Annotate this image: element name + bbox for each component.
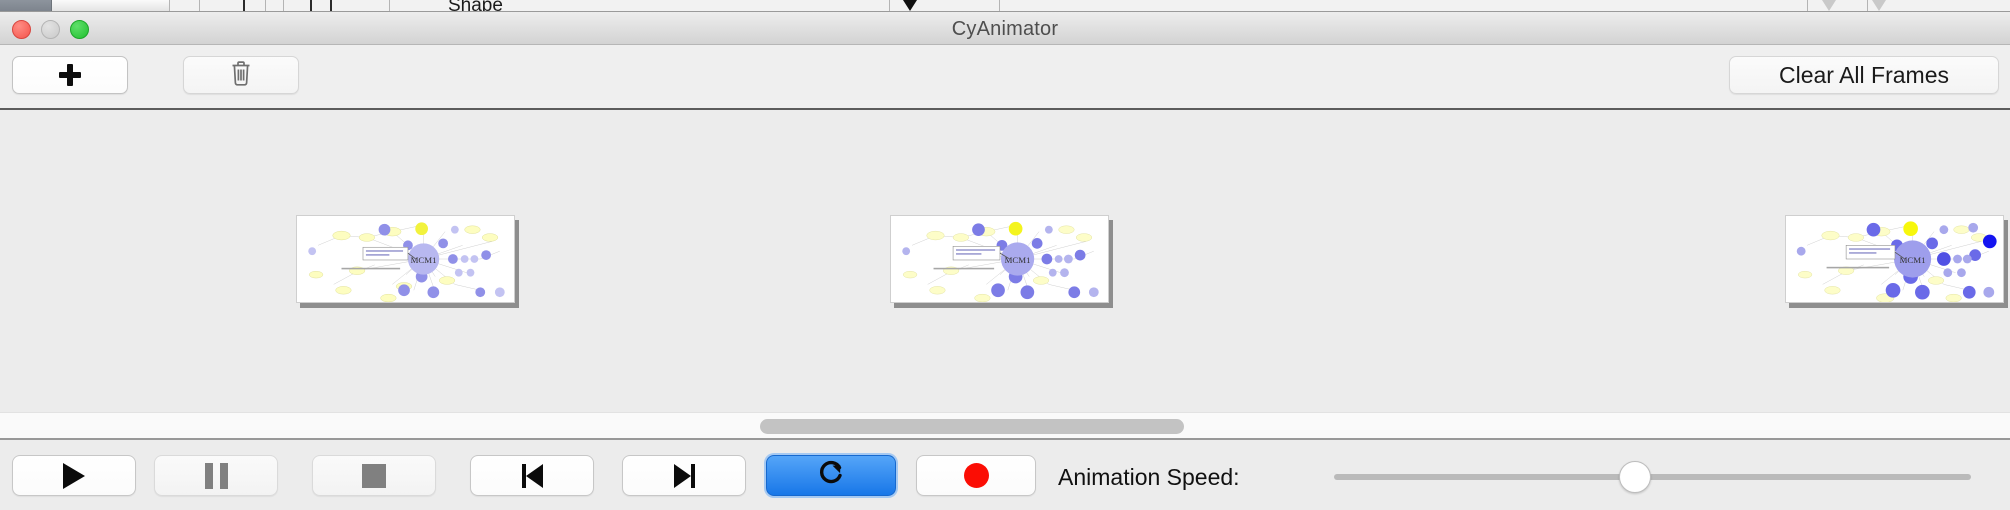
timeline-panel[interactable]: MCM1 [0, 112, 2010, 410]
hub-node-label: MCM1 [411, 255, 437, 265]
background-window-strip: Shape [0, 0, 2010, 12]
animation-speed-slider-thumb[interactable] [1619, 461, 1651, 493]
network-graph-thumbnail: MCM1 [297, 216, 514, 302]
timeline-scrollbar[interactable] [0, 412, 2010, 440]
stop-icon [362, 464, 386, 488]
timeline-frame-thumbnail[interactable]: MCM1 [1785, 215, 2004, 303]
clear-all-frames-label: Clear All Frames [1779, 62, 1949, 89]
stop-button[interactable] [312, 455, 436, 496]
hub-node-label: MCM1 [1900, 255, 1926, 265]
clear-all-frames-button[interactable]: Clear All Frames [1729, 56, 1999, 94]
network-graph-thumbnail: MCM1 [1786, 216, 2003, 302]
hub-node-label: MCM1 [1005, 255, 1031, 265]
record-icon [964, 463, 989, 488]
animation-speed-slider[interactable] [1334, 474, 1971, 480]
page-title: CyAnimator [0, 18, 2010, 41]
network-graph-thumbnail: MCM1 [891, 216, 1108, 302]
add-frame-button[interactable] [12, 56, 128, 94]
timeline-frame-thumbnail[interactable]: MCM1 [296, 215, 515, 303]
pause-button[interactable] [154, 455, 278, 496]
loop-button[interactable] [766, 455, 896, 496]
titlebar: CyAnimator [0, 12, 2010, 45]
background-window-label: Shape [448, 0, 503, 12]
play-icon [63, 463, 85, 489]
playback-controls: Animation Speed: [0, 442, 2010, 510]
record-button[interactable] [916, 455, 1036, 496]
skip-back-icon [522, 464, 543, 488]
toolbar: Clear All Frames [0, 45, 2010, 110]
play-button[interactable] [12, 455, 136, 496]
trash-icon [230, 60, 252, 91]
loop-icon [816, 458, 846, 493]
timeline-frame-thumbnail[interactable]: MCM1 [890, 215, 1109, 303]
timeline-scrollbar-thumb[interactable] [760, 419, 1184, 434]
animation-speed-label: Animation Speed: [1058, 464, 1240, 491]
pause-icon [205, 463, 228, 489]
plus-icon [58, 63, 82, 87]
skip-forward-icon [674, 464, 695, 488]
cyanimator-window: Shape CyAnimator Clear All F [0, 0, 2010, 510]
skip-back-button[interactable] [470, 455, 594, 496]
skip-forward-button[interactable] [622, 455, 746, 496]
delete-frame-button[interactable] [183, 56, 299, 94]
